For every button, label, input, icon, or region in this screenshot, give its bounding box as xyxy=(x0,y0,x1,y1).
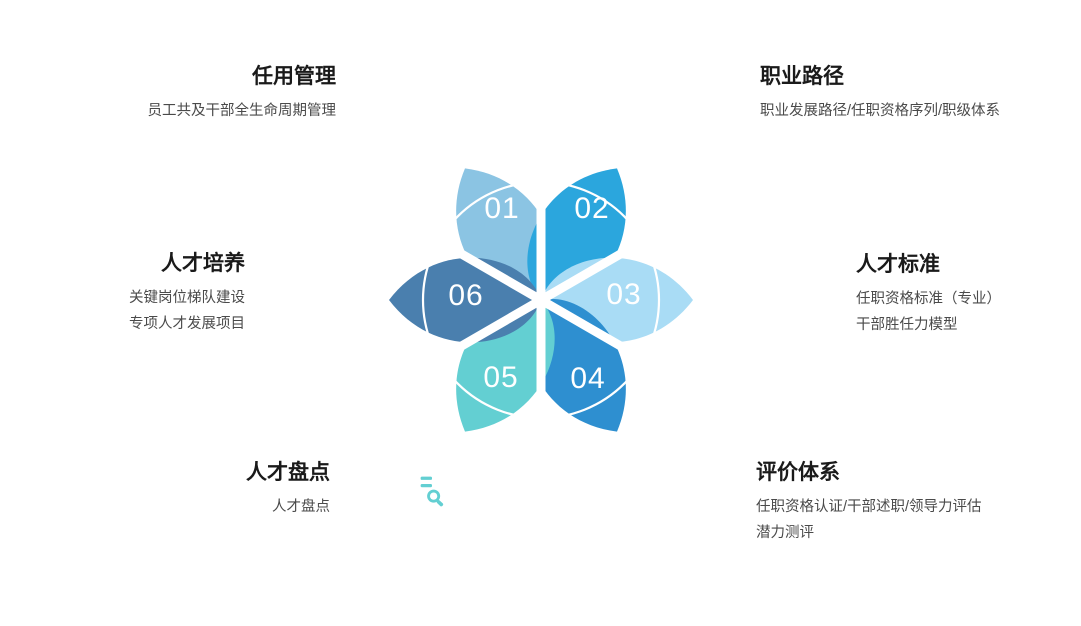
label-title-03: 人才标准 xyxy=(856,250,1081,279)
number-06: 06 xyxy=(448,279,483,312)
label-desc-05-line-0: 人才盘点 xyxy=(50,495,330,520)
label-title-05: 人才盘点 xyxy=(50,458,330,487)
label-block-04: 评价体系 任职资格认证/干部述职/领导力评估 潜力测评 xyxy=(756,458,1076,546)
label-block-06: 人才培养 关键岗位梯队建设 专项人才发展项目 xyxy=(0,249,245,337)
label-block-01: 任用管理 员工共及干部全生命周期管理 xyxy=(36,62,336,125)
number-03: 03 xyxy=(606,278,641,311)
label-desc-03-line-0: 任职资格标准（专业） xyxy=(856,287,1081,312)
number-01: 01 xyxy=(484,192,519,225)
number-04: 04 xyxy=(570,362,605,395)
number-05: 05 xyxy=(483,361,518,394)
number-02: 02 xyxy=(574,192,609,225)
label-block-03: 人才标准 任职资格标准（专业） 干部胜任力模型 xyxy=(856,250,1081,338)
label-block-02: 职业路径 职业发展路径/任职资格序列/职级体系 xyxy=(760,62,1081,125)
label-desc-04-line-1: 潜力测评 xyxy=(756,521,1076,546)
label-desc-01-line-0: 员工共及干部全生命周期管理 xyxy=(36,99,336,124)
label-desc-03-line-1: 干部胜任力模型 xyxy=(856,313,1081,338)
label-desc-06-line-1: 专项人才发展项目 xyxy=(0,312,245,337)
label-desc-06-line-0: 关键岗位梯队建设 xyxy=(0,286,245,311)
label-title-01: 任用管理 xyxy=(36,62,336,91)
label-desc-04-line-0: 任职资格认证/干部述职/领导力评估 xyxy=(756,495,1076,520)
label-title-04: 评价体系 xyxy=(756,458,1076,487)
diagram-canvas: 01 02 03 04 05 06 xyxy=(0,0,1081,626)
label-desc-02-line-0: 职业发展路径/任职资格序列/职级体系 xyxy=(760,99,1081,124)
petal-separators xyxy=(306,28,776,572)
label-title-02: 职业路径 xyxy=(760,62,1081,91)
petals-group xyxy=(306,28,776,572)
label-title-06: 人才培养 xyxy=(0,249,245,278)
label-block-05: 人才盘点 人才盘点 xyxy=(50,458,330,521)
